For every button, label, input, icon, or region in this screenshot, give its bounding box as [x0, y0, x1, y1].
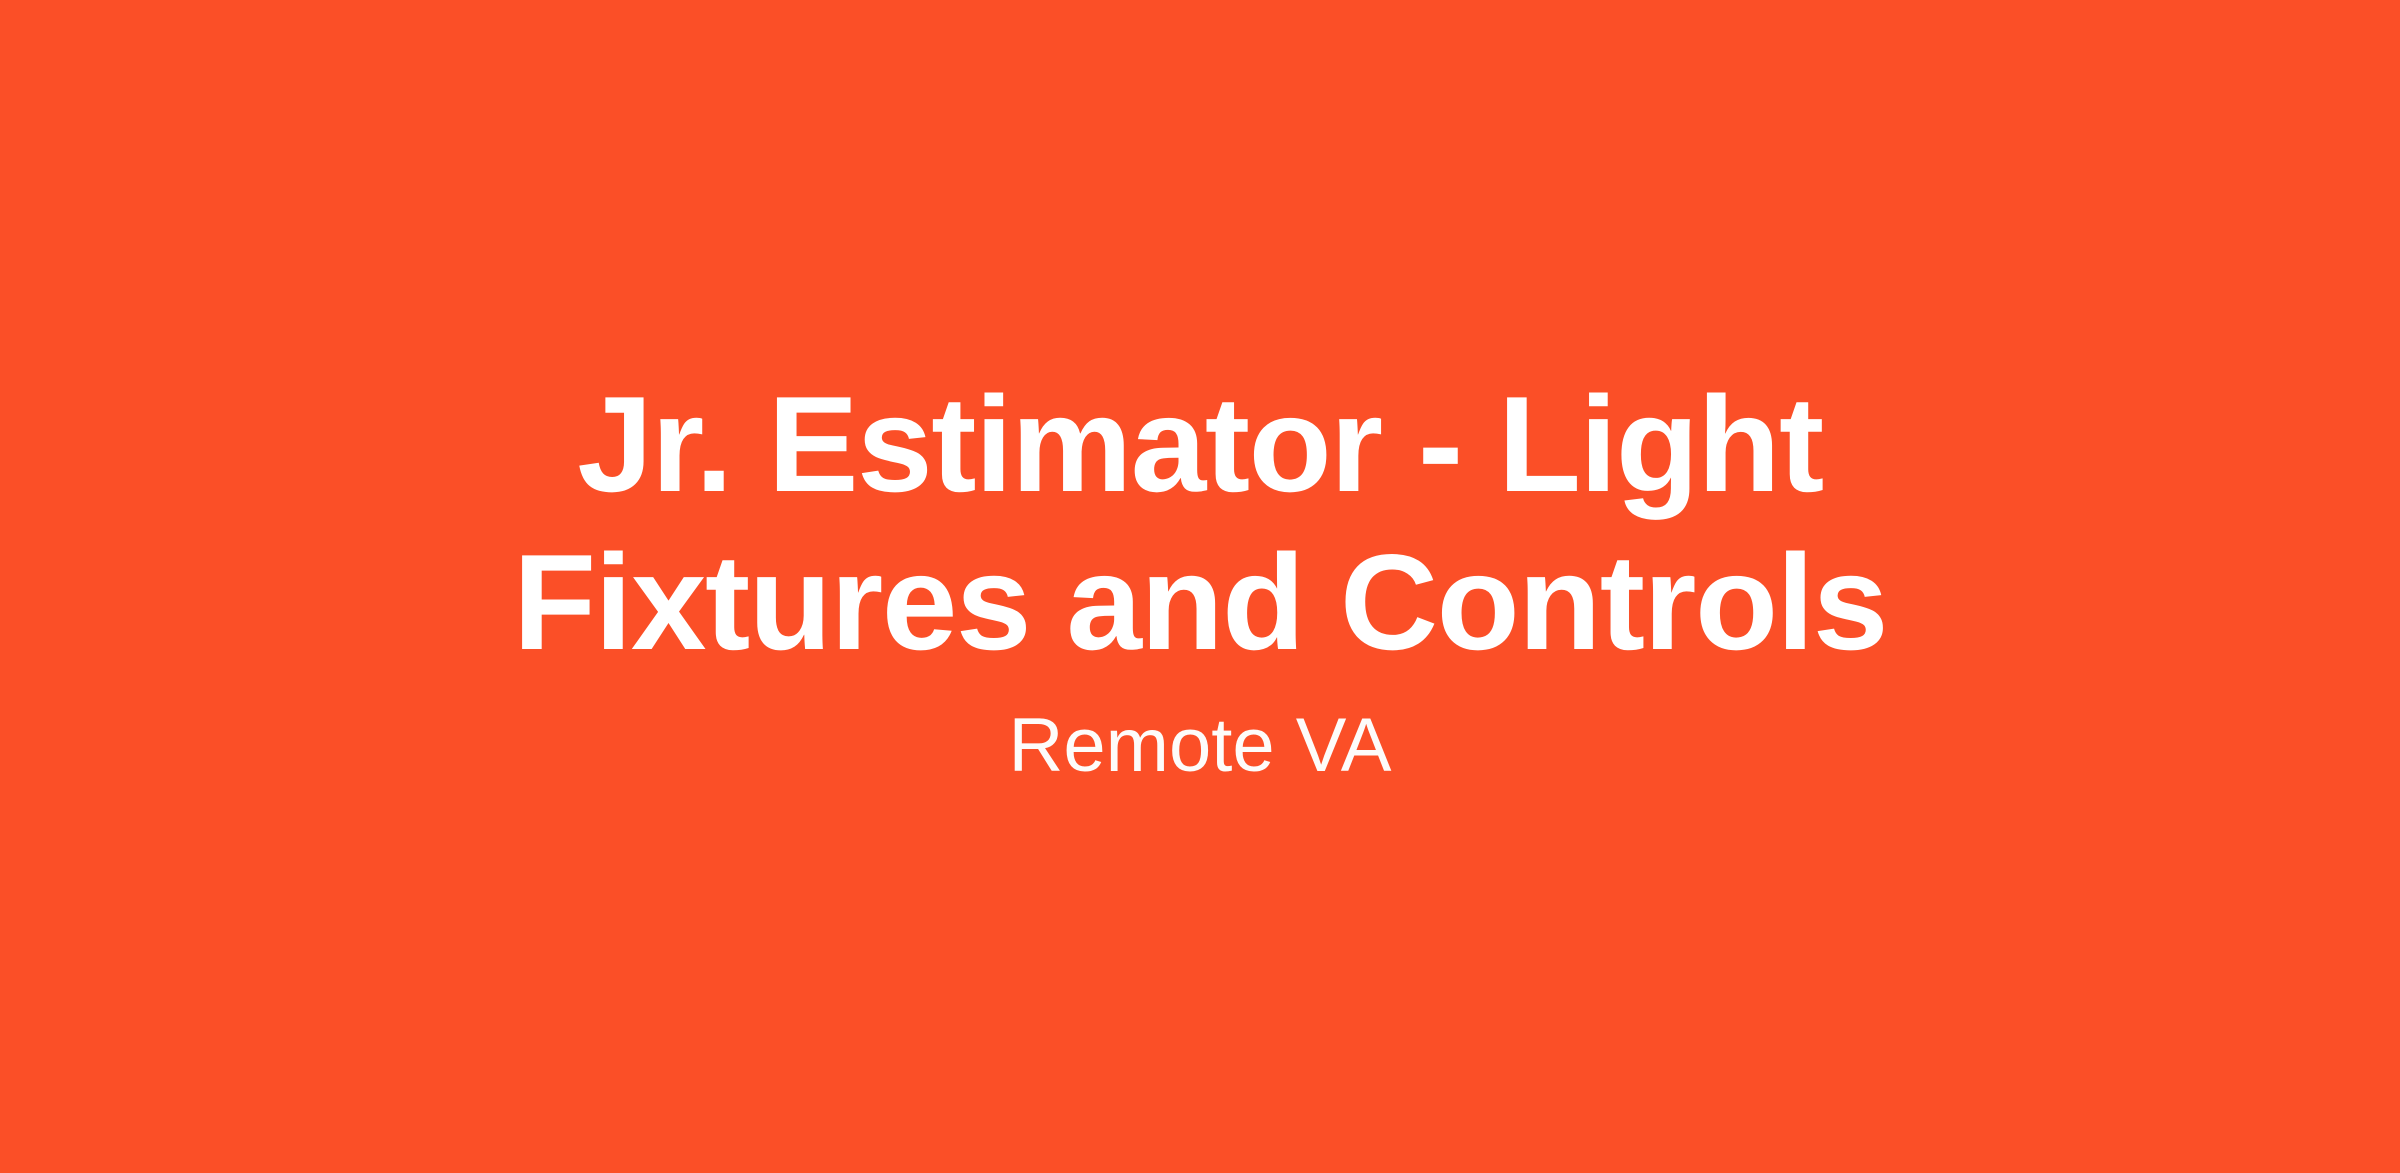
page-title: Jr. Estimator - Light Fixtures and Contr… — [370, 366, 2030, 682]
hero-text-block: Jr. Estimator - Light Fixtures and Contr… — [350, 366, 2050, 791]
job-hero-banner: Jr. Estimator - Light Fixtures and Contr… — [0, 0, 2400, 1173]
job-location: Remote VA — [1009, 700, 1392, 791]
